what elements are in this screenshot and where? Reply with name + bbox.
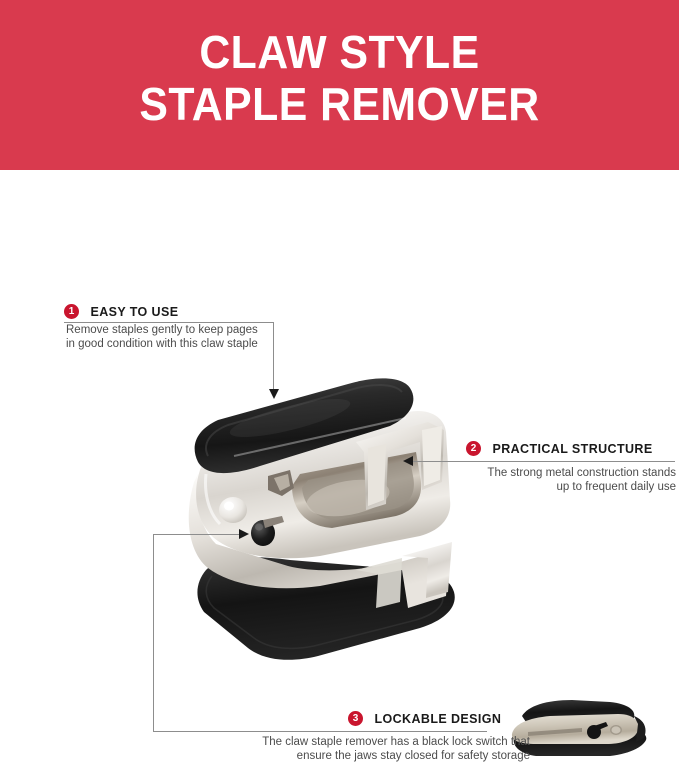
callout-1-badge: 1 [64,304,79,319]
callout-2-badge: 2 [466,441,481,456]
callout-2: 2 PRACTICAL STRUCTURE The strong metal c… [466,440,653,458]
main-product-image [170,370,470,662]
callout-1-leader-horizontal [64,322,274,323]
callout-1-body: Remove staples gently to keep pages in g… [66,324,276,351]
callout-1-heading: EASY TO USE [90,305,178,319]
callout-3-badge: 3 [348,711,363,726]
callout-2-leader-horizontal [412,461,675,462]
callout-1-down-arrow-icon [269,389,279,399]
callout-1: 1 EASY TO USE Remove staples gently to k… [64,303,178,321]
callout-2-heading: PRACTICAL STRUCTURE [492,442,652,456]
callout-3-heading: LOCKABLE DESIGN [374,712,501,726]
callout-3-leader-vertical [153,534,154,731]
header-banner: CLAW STYLE STAPLE REMOVER [0,0,679,170]
callout-3-right-arrow-icon [239,529,249,539]
callout-2-body: The strong metal construction stands up … [404,467,676,494]
page-title: CLAW STYLE STAPLE REMOVER [24,26,655,130]
infographic-page: CLAW STYLE STAPLE REMOVER [0,0,679,771]
callout-3-leader-top [153,534,240,535]
callout-3-leader-bottom [153,731,487,732]
callout-2-left-arrow-icon [403,456,413,466]
inset-product-image [506,694,666,760]
callout-3: 3 LOCKABLE DESIGN The claw staple remove… [348,710,501,728]
callout-3-body: The claw staple remover has a black lock… [220,736,530,763]
